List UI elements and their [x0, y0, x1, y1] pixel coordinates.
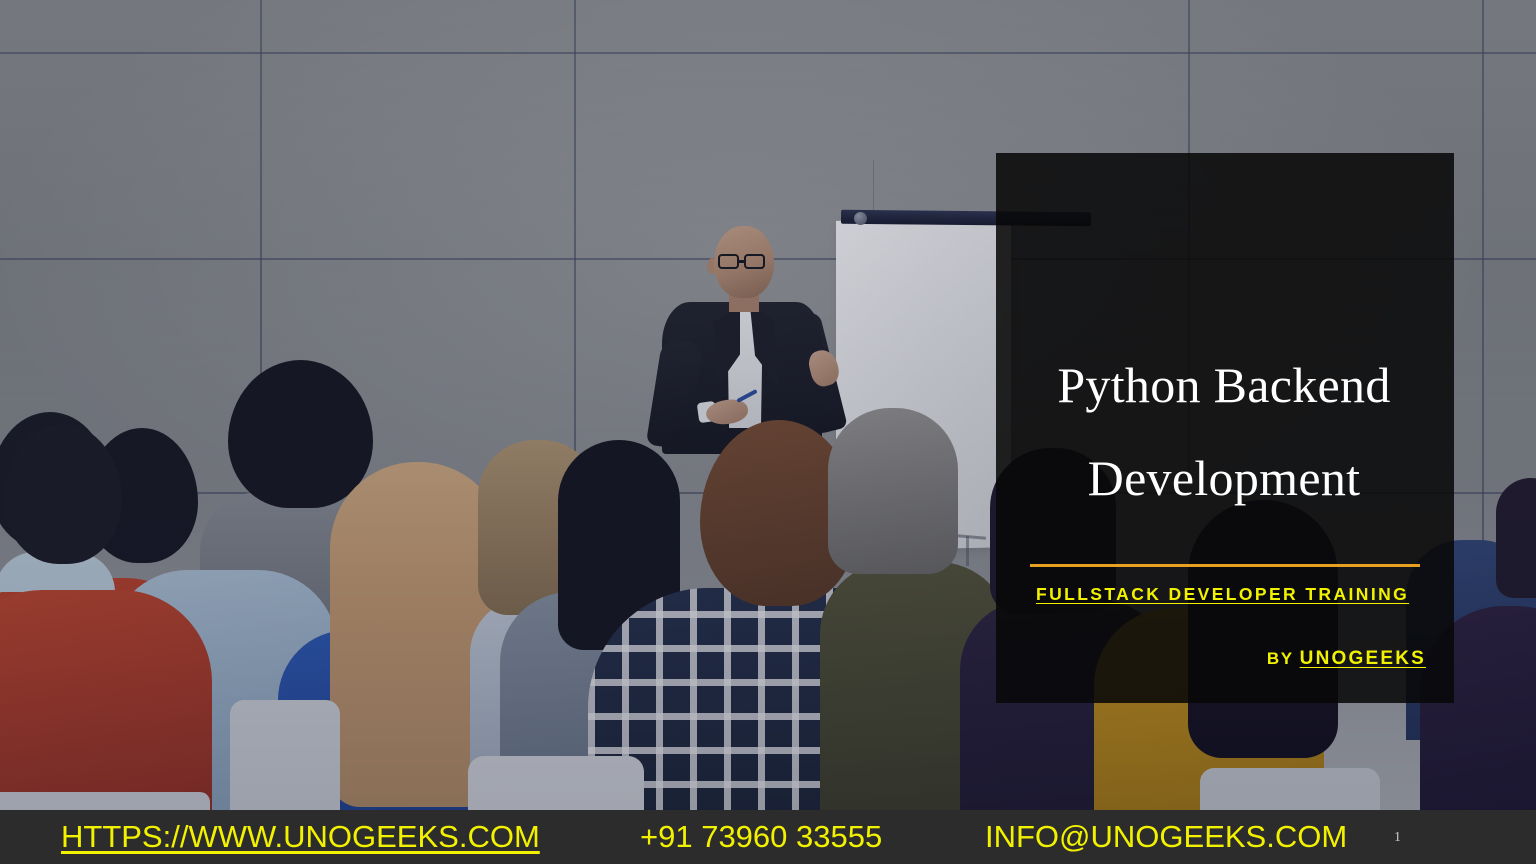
audience-head-gray-hair — [828, 408, 958, 574]
slide-subtitle: FULLSTACK DEVELOPER TRAINING — [1036, 583, 1436, 606]
flipchart-wire — [873, 160, 874, 215]
byline-brand: UNOGEEKS — [1300, 648, 1426, 669]
flipchart-leg-vertical — [966, 536, 969, 566]
footer-bar: HTTPS://WWW.UNOGEEKS.COM +91 73960 33555… — [0, 810, 1536, 864]
title-overlay-panel: Python Backend Development FULLSTACK DEV… — [996, 153, 1454, 703]
presentation-slide: Python Backend Development FULLSTACK DEV… — [0, 0, 1536, 864]
footer-email: INFO@UNOGEEKS.COM — [985, 819, 1347, 855]
orange-divider-line — [1030, 564, 1420, 567]
byline-prefix: BY — [1267, 649, 1294, 668]
slide-title-line-2: Development — [1024, 432, 1424, 525]
slide-byline: BY UNOGEEKS — [1036, 648, 1426, 670]
slide-page-number: 1 — [1394, 830, 1401, 846]
presenter-figure — [640, 222, 870, 452]
presenter-glasses — [718, 254, 770, 269]
footer-website-link[interactable]: HTTPS://WWW.UNOGEEKS.COM — [61, 819, 540, 855]
wall-grid-line-h1 — [0, 52, 1536, 54]
slide-title: Python Backend Development — [1024, 339, 1424, 525]
wall-grid-line-v2 — [574, 0, 576, 470]
chair-white-center — [230, 700, 340, 820]
slide-title-line-1: Python Backend — [1024, 339, 1424, 432]
wall-grid-line-v4 — [1482, 0, 1484, 560]
footer-phone: +91 73960 33555 — [640, 819, 882, 855]
audience-head-glasses-right — [1496, 478, 1536, 598]
